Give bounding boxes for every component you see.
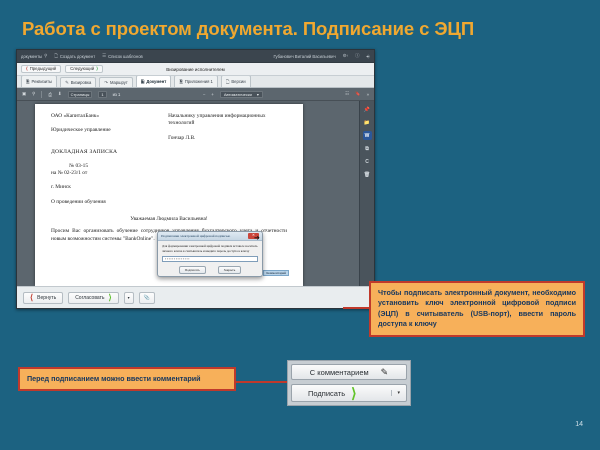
tab-attachments[interactable]: 🖹 Приложения 1 xyxy=(174,75,218,87)
menu-item-create-document[interactable]: 🗋 Создать документ xyxy=(54,52,95,60)
green-chevron-icon: ⟩ xyxy=(351,386,356,400)
sign-button[interactable]: Подписать xyxy=(179,266,206,274)
next-record-label: Следующий xyxy=(70,67,94,71)
prev-record-label: Предыдущий xyxy=(30,67,56,71)
grid-icon[interactable]: ☷ xyxy=(345,91,349,97)
power-icon[interactable]: ⎆ xyxy=(366,54,370,59)
templates-icon: ☰ xyxy=(102,53,106,59)
bookmark-icon[interactable]: 🔖 xyxy=(355,91,360,97)
zoom-out-button[interactable]: − xyxy=(203,92,206,97)
document-addressee: Начальнику управления информационных тех… xyxy=(168,113,287,128)
chevron-right-icon: ⟩ xyxy=(96,67,98,71)
document-number-block: № 03-15 на № 02-23/1 от г. Минск xyxy=(51,163,155,192)
right-icon-rail: 📌 📁 W ⧉ C 🗑 xyxy=(359,101,374,286)
document-reference: на № 02-23/1 от xyxy=(51,170,155,177)
callout-left: Перед подписанием можно ввести комментар… xyxy=(18,367,236,391)
trash-icon[interactable]: 🗑 xyxy=(363,170,372,179)
pencil-icon: ✎ xyxy=(381,367,389,378)
return-button[interactable]: ⟨ Вернуть xyxy=(23,292,63,304)
more-icon[interactable]: » xyxy=(367,92,369,97)
print-icon[interactable]: ⎙ xyxy=(48,92,52,97)
chevron-down-icon: ▾ xyxy=(257,92,259,97)
document-action-bar: ⟨ Вернуть Согласовать ⟩ ▾ 📎 xyxy=(17,286,374,308)
with-comment-label: С комментарием xyxy=(310,368,369,377)
approve-dropdown-button[interactable]: ▾ xyxy=(124,292,134,304)
pdf-viewer-area: ОАО «КапиталБанк» Юридическое управление… xyxy=(17,101,374,286)
new-document-icon: 🗋 xyxy=(54,52,58,60)
download-icon[interactable]: ⬇ xyxy=(58,91,62,97)
application-window-screenshot: документы ⚲ 🗋 Создать документ ☰ Список … xyxy=(16,49,375,309)
return-button-label: Вернуть xyxy=(37,295,56,301)
copy-icon[interactable]: ⧉ xyxy=(363,144,372,153)
document-heading: ДОКЛАДНАЯ ЗАПИСКА xyxy=(51,149,287,155)
search-icon[interactable]: ⚲ xyxy=(44,53,47,59)
callout-left-leader-line xyxy=(234,381,290,383)
sign-button-large-label: Подписать xyxy=(308,389,345,398)
tab-visa[interactable]: ✎ Визировка xyxy=(60,77,96,87)
tab-versions[interactable]: 🗋 Версии xyxy=(221,75,251,87)
callout-right-leader-line xyxy=(343,307,371,309)
documents-label: документы xyxy=(21,54,42,59)
prev-record-button[interactable]: ⟨ Предыдущий xyxy=(21,65,61,73)
zoom-level-select[interactable]: Автоматически ▾ xyxy=(220,91,263,98)
slide-page-number: 14 xyxy=(575,421,583,428)
tab-requisites[interactable]: 🖹 Реквизиты xyxy=(21,75,57,87)
versions-icon: 🗋 xyxy=(226,78,230,86)
create-document-label: Создать документ xyxy=(60,54,95,59)
help-icon[interactable]: ⓘ xyxy=(355,53,359,59)
zoom-in-button[interactable]: + xyxy=(211,92,214,97)
sign-dialog-title: Подписание электронной цифровой подписью xyxy=(161,234,230,238)
next-record-button[interactable]: Следующий ⟩ xyxy=(65,65,103,73)
word-icon[interactable]: W xyxy=(363,131,372,140)
pen-icon: ✎ xyxy=(65,80,69,86)
pdf-viewer-toolbar: ▣ ⚲ ⎙ ⬇ Страницы 1 из 1 − + Автоматическ… xyxy=(17,88,374,101)
current-user-label: Губанович Виталий Васильевич xyxy=(273,54,335,59)
tab-requisites-label: Реквизиты xyxy=(32,79,53,84)
panel-icon[interactable]: ▣ xyxy=(22,91,26,97)
tab-visa-label: Визировка xyxy=(71,80,92,85)
sign-dialog-text: Для формирования электронной цифровой по… xyxy=(162,244,258,253)
document-header-right: Начальнику управления информационных тех… xyxy=(168,113,287,142)
tab-versions-label: Версии xyxy=(231,79,245,84)
chevron-left-icon: ⟨ xyxy=(26,67,28,71)
tab-attachments-label: Приложения 1 xyxy=(185,79,213,84)
search-icon[interactable]: ⚲ xyxy=(32,91,35,97)
pin-icon[interactable]: 📌 xyxy=(363,105,372,114)
tab-route-label: Маршрут xyxy=(110,80,128,85)
sign-dialog[interactable]: Подписание электронной цифровой подписью… xyxy=(157,231,263,277)
document-city: г. Минск xyxy=(51,184,155,191)
document-number-row: № 03-15 на № 02-23/1 от г. Минск xyxy=(51,163,287,192)
chevron-left-icon: ⟨ xyxy=(30,294,33,302)
templates-label: Список шаблонов xyxy=(108,54,143,59)
document-header-row: ОАО «КапиталБанк» Юридическое управление… xyxy=(51,113,287,142)
document-icon: 🖺 xyxy=(141,78,145,86)
page-scroll-region[interactable]: ОАО «КапиталБанк» Юридическое управление… xyxy=(17,101,359,286)
sign-dialog-body: Для формирования электронной цифровой по… xyxy=(158,241,262,277)
tab-document-label: Документ xyxy=(146,79,166,84)
callout-right: Чтобы подписать электронный документ, не… xyxy=(369,281,585,337)
document-number: № 03-15 xyxy=(51,163,155,170)
document-tabs: 🖹 Реквизиты ✎ Визировка ↷ Маршрут 🖺 Доку… xyxy=(17,76,374,88)
folder-icon[interactable]: 📁 xyxy=(363,118,372,127)
document-salutation: Уважаемая Людмила Васильевна! xyxy=(51,216,287,222)
page-total-label: из 1 xyxy=(113,92,121,97)
menu-item-documents[interactable]: документы ⚲ xyxy=(21,53,47,59)
link-icon[interactable]: C xyxy=(363,157,372,166)
document-addressee-name: Гончар Л.В. xyxy=(168,135,287,142)
sign-buttons-graphic: С комментарием ✎ Подписать ⟩ ▾ xyxy=(287,360,411,406)
tab-document[interactable]: 🖺 Документ xyxy=(136,75,172,87)
password-field[interactable]: •••••••••••••• xyxy=(162,256,258,262)
pages-label: Страницы xyxy=(68,91,93,98)
page-title: Работа с проектом документа. Подписание … xyxy=(22,18,474,40)
sign-button-large[interactable]: Подписать ⟩ ▾ xyxy=(291,384,407,402)
tab-route[interactable]: ↷ Маршрут xyxy=(99,77,133,87)
route-icon: ↷ xyxy=(104,80,108,86)
toolbar-separator xyxy=(41,91,42,98)
document-comment-tag: Комментарий xyxy=(263,270,289,276)
mouse-cursor-icon: ➔ xyxy=(254,234,260,242)
zoom-level-value: Автоматически xyxy=(224,92,252,97)
approve-button-label: Согласовать xyxy=(75,295,104,301)
document-header-left: ОАО «КапиталБанк» Юридическое управление xyxy=(51,113,154,142)
approve-button[interactable]: Согласовать ⟩ xyxy=(68,292,118,304)
sign-dialog-buttons: Подписать Закрыть xyxy=(162,266,258,274)
paperclip-icon[interactable]: 📎 xyxy=(139,292,155,304)
document-page: ОАО «КапиталБанк» Юридическое управление… xyxy=(35,104,303,286)
app-top-menu: документы ⚲ 🗋 Создать документ ☰ Список … xyxy=(17,50,374,63)
cancel-button[interactable]: Закрыть xyxy=(218,266,242,274)
document-org: ОАО «КапиталБанк» xyxy=(51,113,154,120)
attachment-icon: 🖹 xyxy=(179,78,183,86)
with-comment-button[interactable]: С комментарием ✎ xyxy=(291,364,407,380)
gear-icon[interactable]: ⚙‹ xyxy=(343,53,348,59)
form-icon: 🖹 xyxy=(26,78,30,86)
sign-dialog-titlebar: Подписание электронной цифровой подписью… xyxy=(158,232,262,241)
menu-item-templates[interactable]: ☰ Список шаблонов xyxy=(102,53,143,59)
page-current-input[interactable]: 1 xyxy=(98,91,106,98)
document-department: Юридическое управление xyxy=(51,127,154,134)
green-chevron-icon: ⟩ xyxy=(109,294,112,302)
sign-dropdown-caret[interactable]: ▾ xyxy=(391,390,400,396)
document-subject: О проведении обучения xyxy=(51,199,287,206)
record-nav-row: Визирование исполнителем ⟨ Предыдущий Сл… xyxy=(17,63,374,76)
